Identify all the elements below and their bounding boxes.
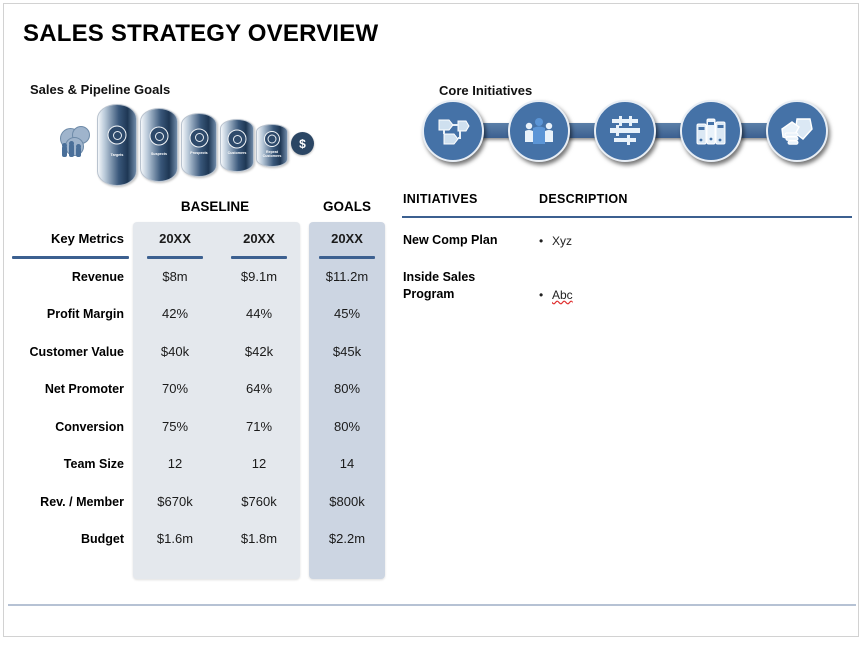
header-underline-goals: [319, 256, 375, 259]
initiatives-header-rule: [402, 216, 852, 218]
metric-label: Conversion: [4, 410, 124, 444]
metric-label: Net Promoter: [4, 372, 124, 406]
metric-goal: $2.2m: [309, 522, 385, 556]
sales-funnel-diagram: Targets Suspects Prospects Customers Rep…: [59, 104, 329, 184]
funnel-stage-label: Repeat Customers: [259, 150, 285, 159]
metric-baseline-1: $670k: [133, 485, 217, 519]
table-row: Customer Value $40k $42k $45k: [4, 335, 394, 373]
funnel-stage-prospects[interactable]: Prospects: [181, 113, 217, 177]
header-underline-baseline-2: [231, 256, 287, 259]
column-header-baseline-2: 20XX: [217, 222, 301, 256]
table-row: Conversion 75% 71% 80%: [4, 410, 394, 448]
metric-goal: 45%: [309, 297, 385, 331]
metric-baseline-1: 70%: [133, 372, 217, 406]
initiative-node-1[interactable]: [422, 100, 484, 162]
funnel-section-heading: Sales & Pipeline Goals: [30, 82, 170, 97]
cycle-icon: [228, 130, 247, 149]
metric-baseline-2: $42k: [217, 335, 301, 369]
metric-goal: 80%: [309, 372, 385, 406]
team-people-icon: [522, 114, 556, 148]
initiative-node-3[interactable]: [594, 100, 656, 162]
metric-label: Rev. / Member: [4, 485, 124, 519]
funnel-stage-repeat-customers[interactable]: Repeat Customers: [256, 124, 288, 167]
metric-label: Team Size: [4, 447, 124, 481]
initiative-description-text: Xyz: [552, 234, 572, 248]
handshake-icon: [779, 113, 815, 149]
initiative-name: New Comp Plan: [403, 232, 528, 249]
question-icon: [150, 127, 169, 146]
table-row: Budget $1.6m $1.8m $2.2m: [4, 522, 394, 560]
metric-goal: $800k: [309, 485, 385, 519]
people-group-icon: [59, 126, 93, 162]
funnel-stage-targets[interactable]: Targets: [97, 104, 137, 186]
bullet-marker: •: [539, 233, 552, 250]
header-underline-baseline-1: [147, 256, 203, 259]
funnel-stage-label: Targets: [111, 153, 124, 157]
metric-baseline-2: $9.1m: [217, 260, 301, 294]
column-header-goals: 20XX: [309, 222, 385, 256]
metric-label: Revenue: [4, 260, 124, 294]
page-title: SALES STRATEGY OVERVIEW: [23, 20, 378, 48]
initiative-node-2[interactable]: [508, 100, 570, 162]
process-flow-icon: [436, 114, 470, 148]
metric-label: Profit Margin: [4, 297, 124, 331]
metrics-group-header-baseline: BASELINE: [177, 199, 253, 214]
metric-baseline-2: 64%: [217, 372, 301, 406]
table-row: Profit Margin 42% 44% 45%: [4, 297, 394, 335]
metric-baseline-2: 71%: [217, 410, 301, 444]
table-row: Team Size 12 12 14: [4, 447, 394, 485]
initiative-description: •Xyz: [539, 233, 572, 250]
initiative-description-text: Abc: [552, 288, 573, 302]
metric-baseline-1: 42%: [133, 297, 217, 331]
header-underline-key-metrics: [12, 256, 129, 259]
column-header-baseline-1: 20XX: [133, 222, 217, 256]
initiative-name: Inside Sales Program: [403, 269, 528, 303]
table-row: Rev. / Member $670k $760k $800k: [4, 485, 394, 523]
initiatives-column-header: INITIATIVES: [403, 192, 478, 206]
footer-divider: [8, 604, 856, 606]
metric-baseline-1: 12: [133, 447, 217, 481]
gauge-icon: [190, 128, 209, 147]
metric-baseline-2: 12: [217, 447, 301, 481]
key-metrics-table: Key Metrics 20XX 20XX 20XX Revenue $8m $…: [4, 222, 394, 560]
refresh-icon: [264, 131, 280, 147]
metric-baseline-1: 75%: [133, 410, 217, 444]
funnel-stage-label: Customers: [228, 151, 247, 155]
sliders-settings-icon: [608, 114, 642, 148]
metric-goal: 14: [309, 447, 385, 481]
bullet-marker: •: [539, 287, 552, 304]
initiative-description: •Abc: [539, 287, 573, 304]
dollar-icon: $: [291, 132, 314, 155]
metric-label: Customer Value: [4, 335, 124, 369]
table-row: Revenue $8m $9.1m $11.2m: [4, 260, 394, 298]
funnel-stage-label: Suspects: [151, 152, 167, 156]
table-row: Net Promoter 70% 64% 80%: [4, 372, 394, 410]
target-icon: [108, 126, 127, 145]
metric-baseline-2: $760k: [217, 485, 301, 519]
metric-baseline-1: $40k: [133, 335, 217, 369]
metric-baseline-2: 44%: [217, 297, 301, 331]
column-header-key-metrics: Key Metrics: [4, 222, 124, 256]
funnel-stage-suspects[interactable]: Suspects: [140, 108, 178, 182]
metric-goal: $45k: [309, 335, 385, 369]
metric-baseline-1: $8m: [133, 260, 217, 294]
core-initiatives-heading: Core Initiatives: [439, 83, 532, 98]
initiative-node-5[interactable]: [766, 100, 828, 162]
initiative-node-4[interactable]: [680, 100, 742, 162]
description-column-header: DESCRIPTION: [539, 192, 628, 206]
funnel-stage-label: Prospects: [190, 151, 207, 155]
servers-binders-icon: [694, 114, 728, 148]
metric-goal: $11.2m: [309, 260, 385, 294]
metric-baseline-2: $1.8m: [217, 522, 301, 556]
slide-canvas: SALES STRATEGY OVERVIEW Sales & Pipeline…: [3, 3, 859, 637]
funnel-stage-customers[interactable]: Customers: [220, 119, 254, 172]
table-header-row: Key Metrics 20XX 20XX 20XX: [4, 222, 394, 260]
metric-baseline-1: $1.6m: [133, 522, 217, 556]
core-initiatives-chain: [422, 100, 842, 162]
metric-goal: 80%: [309, 410, 385, 444]
metric-label: Budget: [4, 522, 124, 556]
metrics-group-header-goals: GOALS: [313, 199, 381, 214]
